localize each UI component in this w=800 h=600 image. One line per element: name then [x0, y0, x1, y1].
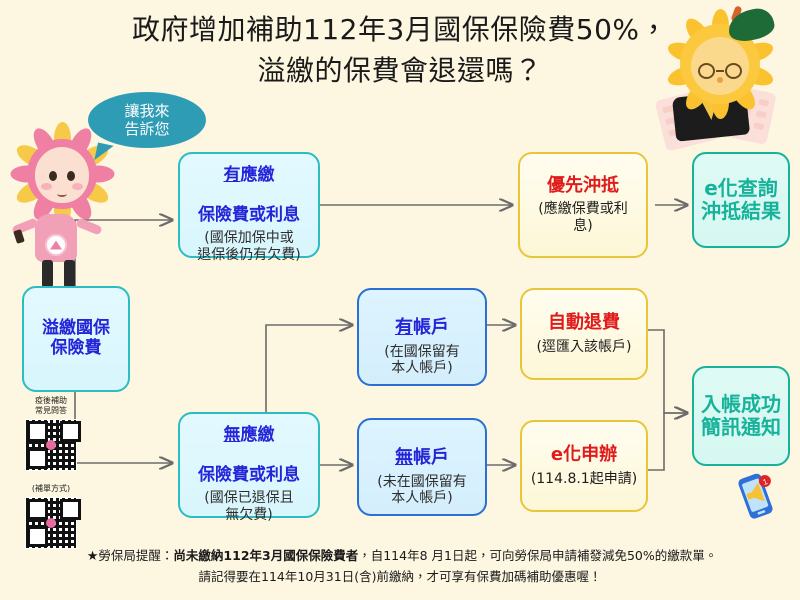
mascot-leg-left [42, 260, 53, 288]
flow-node-auto-refund[interactable]: 自動退費 (逕匯入該帳戶) [520, 288, 648, 380]
qr-code-block-reissue[interactable]: (補單方式) [14, 484, 88, 549]
flow-node-start[interactable]: 溢繳國保 保險費 [22, 286, 130, 392]
flow-node-has-account-rest: 帳戶 [413, 317, 449, 338]
flow-node-owing-title: 有應繳 保險費或利息 [198, 147, 300, 225]
qr-caption-reissue: (補單方式) [14, 484, 88, 494]
flow-node-sms-notice-title: 入帳成功 簡訊通知 [701, 393, 781, 439]
wire-autorefund-to-sms [648, 330, 687, 413]
flow-node-e-query-result-title: e化查詢 沖抵結果 [701, 177, 781, 223]
bli-logo-icon [45, 234, 67, 256]
qr-code-faq-icon[interactable] [25, 419, 77, 471]
flow-node-no-account[interactable]: 無帳戶 (未在國保留有 本人帳戶) [357, 418, 487, 516]
footer-note: ★勞保局提醒：尚未繳納112年3月國保保險費者，自114年8 月1日起，可向勞保… [0, 546, 800, 587]
flow-node-not-owing-keyword: 無 [224, 425, 241, 445]
flow-node-not-owing-title: 無應繳 保險費或利息 [198, 407, 300, 485]
flow-node-e-apply-title: e化申辦 [551, 445, 617, 466]
flow-node-offset-first-sub: (應繳保費或利 息) [538, 201, 627, 234]
flow-node-offset-first[interactable]: 優先沖抵 (應繳保費或利 息) [518, 152, 648, 258]
page-title: 政府增加補助112年3月國保保險費50%， 溢繳的保費會退還嗎？ [0, 10, 800, 91]
footer-line-2: 請記得要在114年10月31日(含)前繳納，才可享有保費加碼補助優惠喔！ [0, 567, 800, 586]
flow-node-has-account-title: 有帳戶 [395, 297, 449, 338]
mascot-face [27, 139, 97, 209]
qr-code-reissue-icon[interactable] [25, 497, 77, 549]
flow-node-no-account-title: 無帳戶 [395, 427, 449, 468]
flow-node-owing-keyword: 有 [224, 165, 241, 185]
flow-node-owing[interactable]: 有應繳 保險費或利息 (國保加保中或 退保後仍有欠費) [178, 152, 320, 258]
flow-node-not-owing-rest: 應繳 [241, 425, 275, 445]
mascot-eye-right-icon [67, 171, 75, 181]
flow-node-start-title: 溢繳國保 保險費 [42, 319, 110, 358]
mascot-head [10, 122, 114, 226]
mascot-leg-right [64, 260, 75, 288]
footer-line-1: ★勞保局提醒：尚未繳納112年3月國保保險費者，自114年8 月1日起，可向勞保… [0, 546, 800, 567]
flow-node-sms-notice[interactable]: 入帳成功 簡訊通知 [692, 366, 790, 466]
flow-node-e-query-result[interactable]: e化查詢 沖抵結果 [692, 152, 790, 248]
mascot-eye-left-icon [49, 171, 57, 181]
flow-node-e-apply[interactable]: e化申辦 (114.8.1起申請) [520, 420, 648, 512]
speech-bubble: 讓我來 告訴您 [88, 92, 206, 148]
flow-node-has-account[interactable]: 有帳戶 (在國保留有 本人帳戶) [357, 288, 487, 386]
wire-notowing-to-hasacct [266, 325, 352, 415]
flow-node-not-owing-sub: (國保已退保且 無欠費) [204, 490, 293, 523]
mascot-blush-right [72, 183, 83, 190]
footer-lead: 勞保局提醒： [98, 548, 173, 563]
qr-code-block-faq[interactable]: 疫後補助 常見問答 [14, 396, 88, 471]
flow-node-has-account-sub: (在國保留有 本人帳戶) [384, 344, 459, 377]
flow-node-owing-line2: 保險費或利息 [198, 205, 300, 225]
infographic-canvas: 政府增加補助112年3月國保保險費50%， 溢繳的保費會退還嗎？ [0, 0, 800, 600]
footer-bold: 尚未繳納112年3月國保保險費者 [173, 548, 358, 563]
mascot-blush-left [41, 183, 52, 190]
flow-node-no-account-keyword: 無 [395, 447, 413, 468]
flow-node-not-owing[interactable]: 無應繳 保險費或利息 (國保已退保且 無欠費) [178, 412, 320, 518]
mascot-mouth-icon [57, 191, 67, 197]
flow-node-auto-refund-sub: (逕匯入該帳戶) [537, 339, 632, 356]
footer-rest: ，自114年8 月1日起，可向勞保局申請補發減免50%的繳款單。 [358, 548, 717, 563]
star-icon: ★ [87, 549, 99, 564]
flow-node-e-apply-sub: (114.8.1起申請) [531, 471, 637, 488]
mascot-body [35, 214, 77, 262]
flow-node-no-account-rest: 帳戶 [413, 447, 449, 468]
flow-node-no-account-sub: (未在國保留有 本人帳戶) [377, 474, 466, 507]
flow-node-owing-sub: (國保加保中或 退保後仍有欠費) [197, 230, 300, 263]
flow-node-has-account-keyword: 有 [395, 317, 413, 338]
flow-node-owing-rest: 應繳 [241, 165, 275, 185]
qr-caption-faq: 疫後補助 常見問答 [14, 396, 88, 416]
mascot-skin [35, 147, 89, 203]
flow-node-not-owing-line2: 保險費或利息 [198, 465, 300, 485]
flow-node-auto-refund-title: 自動退費 [548, 313, 620, 334]
wire-eapply-to-sms [648, 413, 687, 470]
phone-megaphone-icon: 1 [736, 468, 782, 526]
flow-node-offset-first-title: 優先沖抵 [547, 176, 619, 197]
